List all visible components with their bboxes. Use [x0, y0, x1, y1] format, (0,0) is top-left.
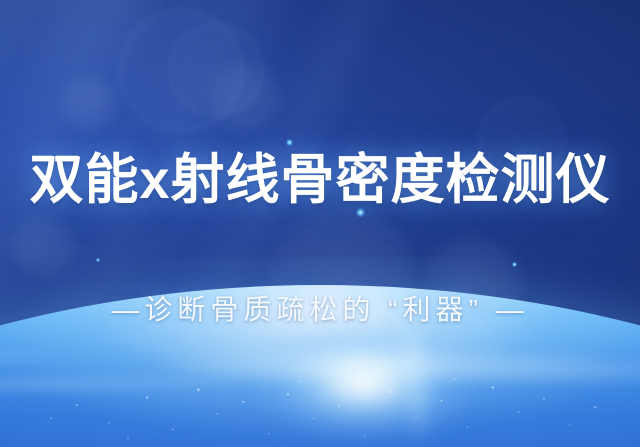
page-title: 双能x射线骨密度检测仪: [0, 146, 640, 214]
poster-banner: 双能x射线骨密度检测仪 —诊断骨质疏松的 “利器” —: [0, 0, 640, 447]
page-subtitle: —诊断骨质疏松的 “利器” —: [0, 291, 640, 329]
earth-horizon: [0, 257, 640, 447]
sky-top-vignette: [0, 0, 640, 160]
